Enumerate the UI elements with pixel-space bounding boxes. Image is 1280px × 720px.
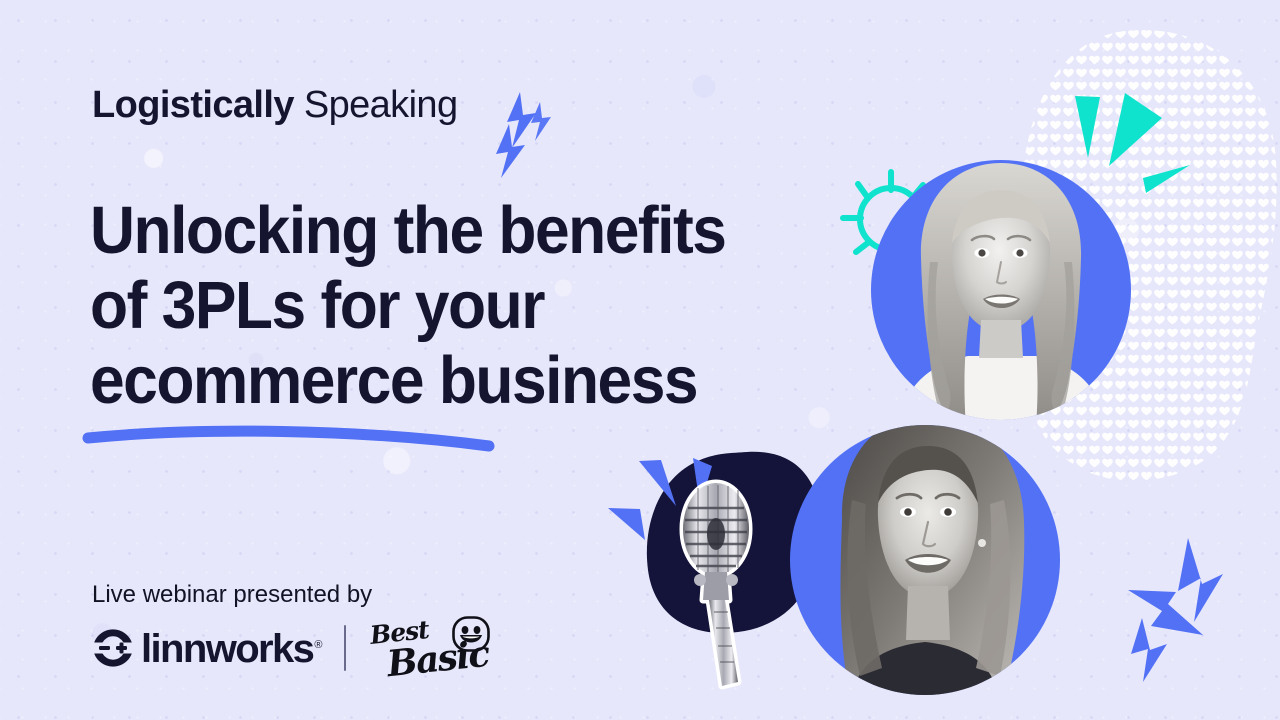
webinar-promo-canvas: Logistically Speaking Unlocking the bene… bbox=[0, 0, 1280, 720]
headline-line-1: Unlocking the benefits bbox=[90, 193, 725, 268]
series-title: Logistically Speaking bbox=[92, 86, 458, 124]
linnworks-wordmark: linnworks® bbox=[141, 629, 322, 669]
linnworks-circle-plus-minus-icon bbox=[90, 625, 136, 671]
underline-swoosh bbox=[88, 431, 489, 446]
registered-trademark-icon: ® bbox=[314, 639, 322, 651]
series-title-light: Speaking bbox=[304, 84, 458, 126]
series-title-bold: Logistically bbox=[92, 84, 294, 126]
linnworks-logo: linnworks® bbox=[90, 625, 322, 671]
logo-divider bbox=[344, 625, 346, 671]
headline-line-2: of 3PLs for your bbox=[90, 268, 544, 343]
page-title: Unlocking the benefits of 3PLs for your … bbox=[90, 193, 778, 418]
presented-by-label: Live webinar presented by bbox=[92, 581, 372, 610]
logo-lockup: linnworks® Best Basic bbox=[90, 618, 497, 678]
teal-sparkle-triangles bbox=[1075, 93, 1190, 193]
linnworks-wordmark-text: linnworks bbox=[141, 627, 313, 671]
lightning-bolts-title bbox=[496, 92, 551, 178]
best-basic-logo: Best Basic bbox=[369, 615, 497, 681]
lightning-bolts-corner bbox=[1128, 538, 1223, 682]
speaker-top-portrait bbox=[871, 160, 1131, 427]
speaker-bottom-portrait bbox=[790, 414, 1060, 695]
smiley-face-icon bbox=[451, 615, 491, 655]
headline-line-3: ecommerce business bbox=[90, 343, 697, 418]
